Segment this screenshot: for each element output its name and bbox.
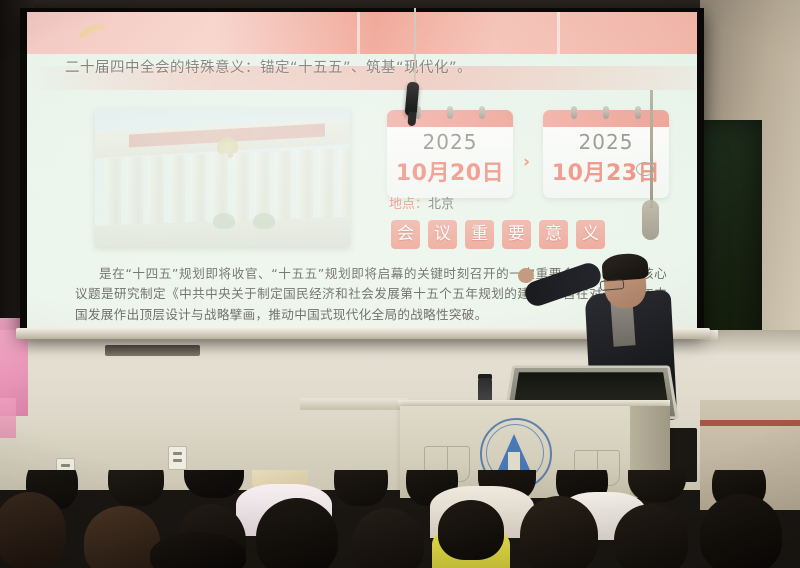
audience <box>0 470 800 568</box>
university-crest-cut <box>508 452 520 470</box>
audience-head-front <box>84 506 160 568</box>
significance-tiles: 会 议 重 要 意 义 <box>391 220 605 249</box>
place-label: 地点： <box>389 197 428 212</box>
hammer-sickle-emblem <box>73 19 111 45</box>
cord-loop <box>636 162 654 176</box>
pink-wall-poster-lower <box>0 398 16 438</box>
place-value: 北京 <box>428 197 454 212</box>
audience-head <box>184 470 244 498</box>
presenter-hair <box>601 252 649 281</box>
glasses-icon <box>600 279 625 291</box>
calendar-card-start: 2025 10月20日 <box>387 110 513 198</box>
date-range-arrow: › <box>523 152 530 172</box>
audience-head-front <box>614 504 688 568</box>
audience-head <box>108 470 164 506</box>
tile-char: 要 <box>502 220 531 249</box>
tile-char: 重 <box>465 220 494 249</box>
tile-char: 义 <box>576 220 605 249</box>
power-outlet <box>168 446 187 470</box>
audience-head-front <box>438 500 504 560</box>
tile-char: 意 <box>539 220 568 249</box>
microphone-wire <box>414 8 416 84</box>
calendar-year: 2025 <box>387 130 513 154</box>
audience-head-front <box>352 508 424 568</box>
screen-pull-cord[interactable] <box>650 90 653 208</box>
audience-head-front <box>256 498 338 568</box>
cord-handle[interactable] <box>642 200 659 240</box>
slide-top-banner <box>27 12 697 54</box>
meeting-place: 地点：北京 <box>389 193 454 212</box>
lecture-hall-photo: 二十届四中全会的特殊意义：锚定“十五五”、筑基“现代化”。 2025 10月20… <box>0 0 800 568</box>
audience-head-front <box>700 494 782 568</box>
side-desk <box>300 398 408 410</box>
audience-head-front <box>520 496 598 568</box>
audience-head-front <box>0 492 66 568</box>
tile-char: 议 <box>428 220 457 249</box>
wall-trim <box>700 420 800 426</box>
tile-char: 会 <box>391 220 420 249</box>
tray-slot <box>105 345 200 356</box>
slide-title: 二十届四中全会的特殊意义：锚定“十五五”、筑基“现代化”。 <box>65 56 665 77</box>
calendar-date: 10月20日 <box>387 155 513 187</box>
audience-head <box>334 470 388 506</box>
great-hall-photo <box>95 109 350 247</box>
